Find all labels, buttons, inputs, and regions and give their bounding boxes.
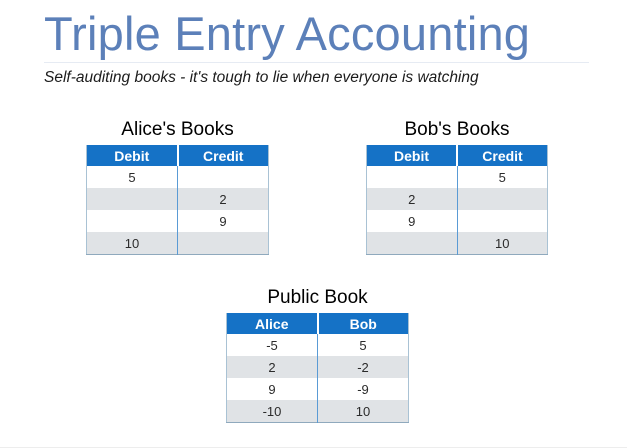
column-header-debit: Debit — [87, 145, 178, 166]
cell-credit: 5 — [457, 166, 548, 188]
cell-alice: 9 — [227, 378, 318, 400]
table-header-row: Alice Bob — [227, 313, 409, 334]
cell-bob: -9 — [318, 378, 409, 400]
cell-bob: 10 — [318, 400, 409, 423]
table-row: -5 5 — [227, 334, 409, 356]
slide-canvas: Triple Entry Accounting Self-auditing bo… — [0, 0, 627, 448]
cell-credit — [178, 166, 269, 188]
page-subtitle: Self-auditing books - it's tough to lie … — [44, 69, 589, 87]
table-row: 2 — [367, 188, 548, 210]
cell-debit: 9 — [367, 210, 458, 232]
page-title: Triple Entry Accounting — [44, 8, 589, 60]
table-row: 5 — [367, 166, 548, 188]
table-row: 2 -2 — [227, 356, 409, 378]
column-header-credit: Credit — [178, 145, 269, 166]
cell-debit: 5 — [87, 166, 178, 188]
table-row: 10 — [367, 232, 548, 255]
column-header-debit: Debit — [367, 145, 458, 166]
cell-debit — [87, 210, 178, 232]
cell-credit: 9 — [178, 210, 269, 232]
table-row: -10 10 — [227, 400, 409, 423]
title-block: Triple Entry Accounting Self-auditing bo… — [44, 8, 589, 87]
table-row: 10 — [87, 232, 269, 255]
column-header-bob: Bob — [318, 313, 409, 334]
ledger-alice-table: Debit Credit 5 2 9 10 — [86, 145, 269, 255]
table-row: 9 — [87, 210, 269, 232]
ledger-public-title: Public Book — [226, 286, 409, 310]
ledger-public-table: Alice Bob -5 5 2 -2 9 -9 -10 — [226, 313, 409, 423]
table-header-row: Debit Credit — [367, 145, 548, 166]
cell-credit: 10 — [457, 232, 548, 255]
table-row: 2 — [87, 188, 269, 210]
title-divider — [44, 62, 589, 63]
table-row: 9 — [367, 210, 548, 232]
cell-alice: -5 — [227, 334, 318, 356]
ledger-bob-title: Bob's Books — [366, 118, 548, 142]
table-row: 5 — [87, 166, 269, 188]
ledger-alice: Alice's Books Debit Credit 5 2 — [86, 118, 269, 255]
cell-credit — [178, 232, 269, 255]
cell-credit — [457, 210, 548, 232]
cell-bob: 5 — [318, 334, 409, 356]
column-header-alice: Alice — [227, 313, 318, 334]
cell-debit: 2 — [367, 188, 458, 210]
table-row: 9 -9 — [227, 378, 409, 400]
cell-credit: 2 — [178, 188, 269, 210]
cell-credit — [457, 188, 548, 210]
column-header-credit: Credit — [457, 145, 548, 166]
ledger-alice-title: Alice's Books — [86, 118, 269, 142]
ledger-bob: Bob's Books Debit Credit 5 2 9 — [366, 118, 548, 255]
ledger-bob-table: Debit Credit 5 2 9 1 — [366, 145, 548, 255]
cell-bob: -2 — [318, 356, 409, 378]
ledger-public: Public Book Alice Bob -5 5 2 -2 9 — [226, 286, 409, 423]
table-header-row: Debit Credit — [87, 145, 269, 166]
cell-alice: 2 — [227, 356, 318, 378]
cell-debit — [367, 232, 458, 255]
cell-debit: 10 — [87, 232, 178, 255]
cell-debit — [87, 188, 178, 210]
cell-alice: -10 — [227, 400, 318, 423]
cell-debit — [367, 166, 458, 188]
